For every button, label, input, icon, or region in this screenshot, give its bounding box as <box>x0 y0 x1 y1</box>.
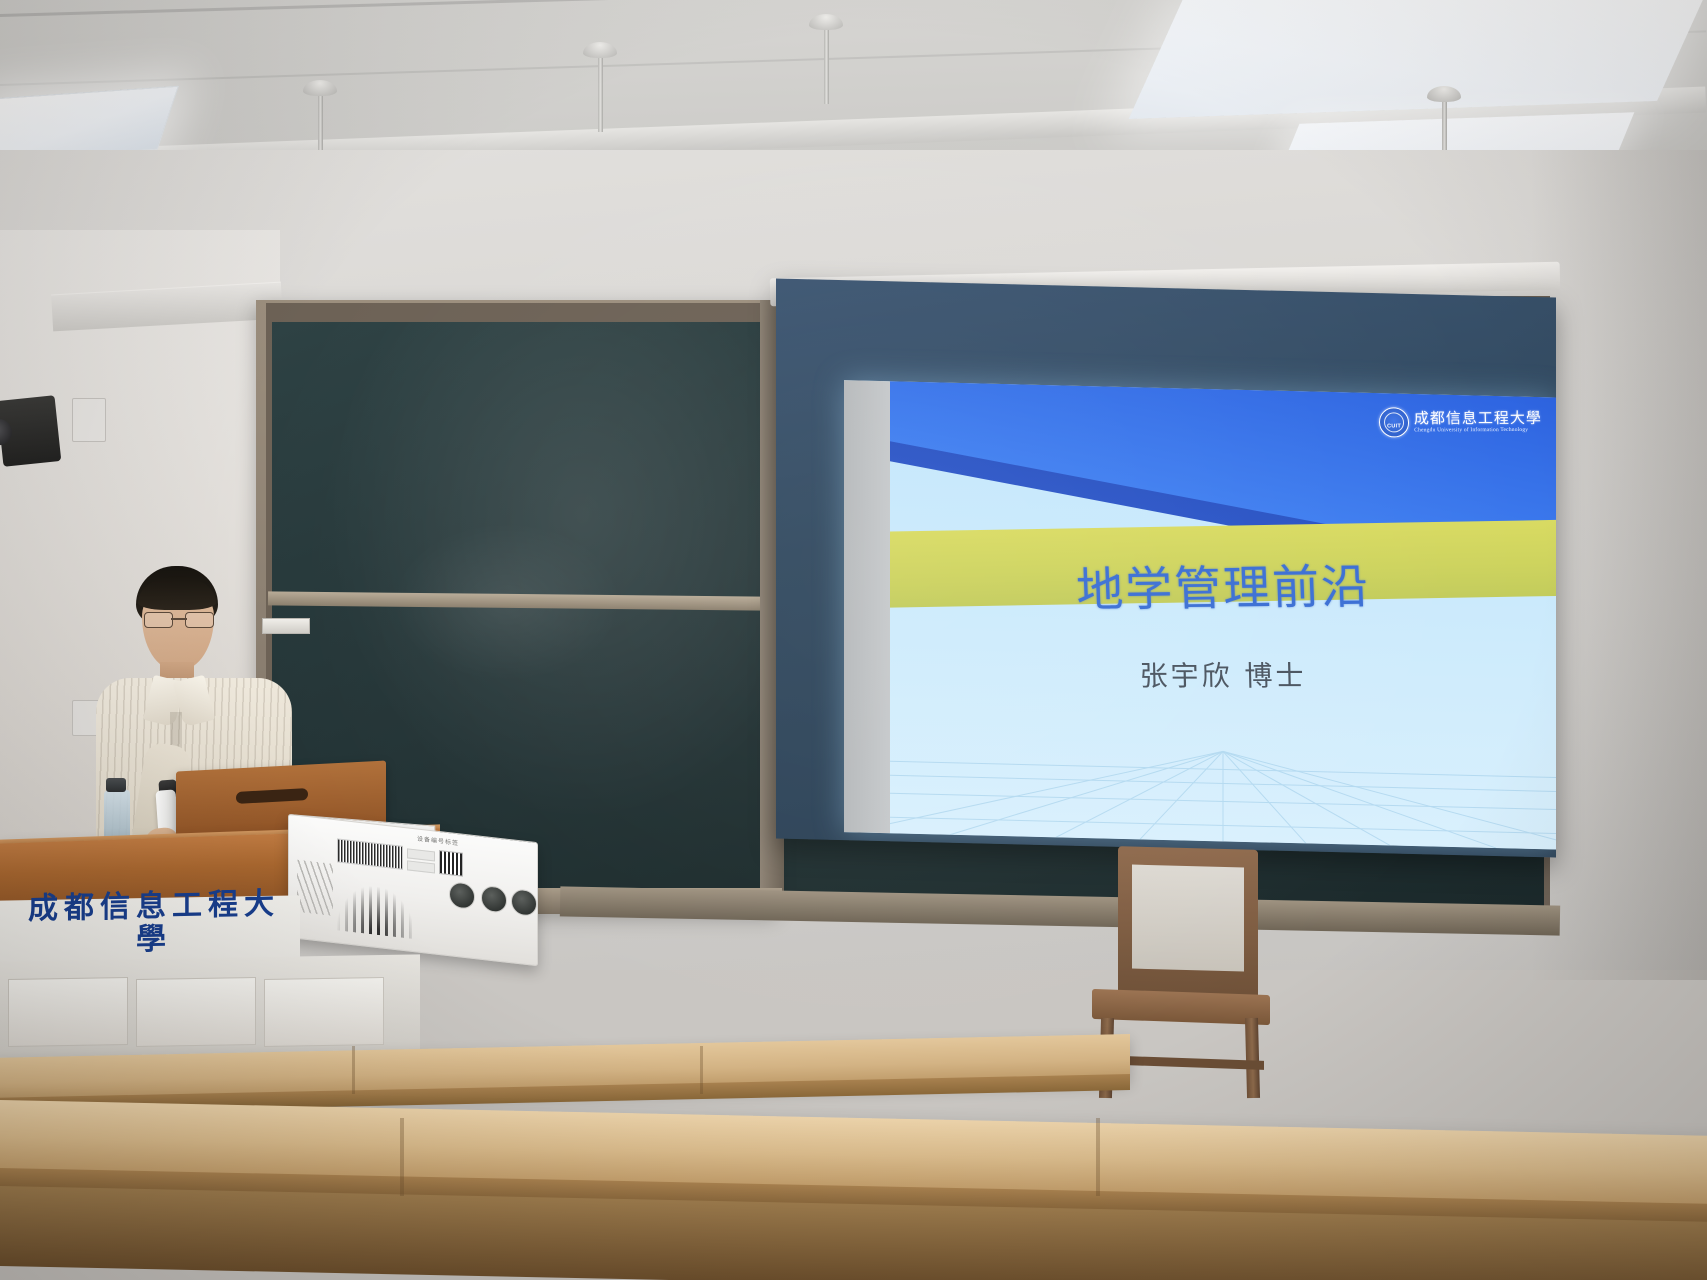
qr-code-icon <box>439 850 463 877</box>
barcode-icon <box>337 838 403 870</box>
device-small-label <box>407 848 435 861</box>
slide-content: CUIT 成都信息工程大學 Chengdu University of Info… <box>890 381 1556 849</box>
desk-seam <box>352 1046 355 1094</box>
projection-screen-surface: CUIT 成都信息工程大學 Chengdu University of Info… <box>776 278 1556 857</box>
wall-outlet <box>72 398 106 442</box>
university-logo: CUIT 成都信息工程大學 Chengdu University of Info… <box>1379 407 1543 438</box>
chair-backrest-panel <box>1132 865 1244 972</box>
classroom-scene: CUIT 成都信息工程大學 Chengdu University of Info… <box>0 0 1707 1280</box>
ceiling-light-icon <box>1129 0 1707 119</box>
logo-name-en: Chengdu University of Information Techno… <box>1414 427 1542 433</box>
cuit-seal-icon: CUIT <box>1379 407 1410 437</box>
grid-svg <box>890 683 1556 849</box>
logo-name-cn: 成都信息工程大學 <box>1414 411 1542 427</box>
glasses-icon <box>144 612 214 626</box>
projection-screen: CUIT 成都信息工程大學 Chengdu University of Info… <box>776 278 1556 857</box>
hanger-rod <box>824 18 829 104</box>
podium-base-panel <box>8 977 128 1047</box>
podium-base-panel <box>264 977 384 1047</box>
podium-university-sign: 成都信息工程大學 Chengdu University of Informati… <box>14 887 294 965</box>
seal-text: CUIT <box>1380 423 1408 429</box>
glasses-bridge <box>171 618 187 620</box>
hanger-cone <box>583 42 617 58</box>
glasses-lens-left <box>144 612 173 628</box>
presentation-slide: CUIT 成都信息工程大學 Chengdu University of Info… <box>844 380 1556 849</box>
chair-seat <box>1092 989 1270 1025</box>
device-knob[interactable] <box>481 885 507 914</box>
logo-text-block: 成都信息工程大學 Chengdu University of Informati… <box>1414 411 1543 434</box>
device-knob[interactable] <box>511 888 537 917</box>
hanger-cone <box>1427 86 1461 102</box>
hanger-rod <box>598 46 603 132</box>
device-brand-icon <box>337 882 415 939</box>
hanger-cone <box>303 80 337 96</box>
desk-seam <box>1096 1118 1100 1196</box>
wall-speaker-icon <box>0 395 61 467</box>
chair-leg <box>1245 1018 1260 1098</box>
device-top-label: 设备编号标签 <box>417 833 459 847</box>
slide-title: 地学管理前沿 <box>890 545 1556 622</box>
desk-seam <box>400 1118 404 1196</box>
device-knob[interactable] <box>449 881 475 910</box>
device-small-label <box>407 860 435 873</box>
desk-seam <box>700 1046 703 1094</box>
water-bottle-cap <box>106 778 126 792</box>
slide-perspective-grid <box>890 683 1556 849</box>
device-vent-grille <box>297 860 333 916</box>
slide-left-margin <box>844 380 890 833</box>
glasses-lens-right <box>185 612 214 628</box>
podium-sign-cn: 成都信息工程大學 <box>14 887 294 959</box>
hanger-cone <box>809 14 843 30</box>
podium-base-panel <box>136 977 256 1047</box>
